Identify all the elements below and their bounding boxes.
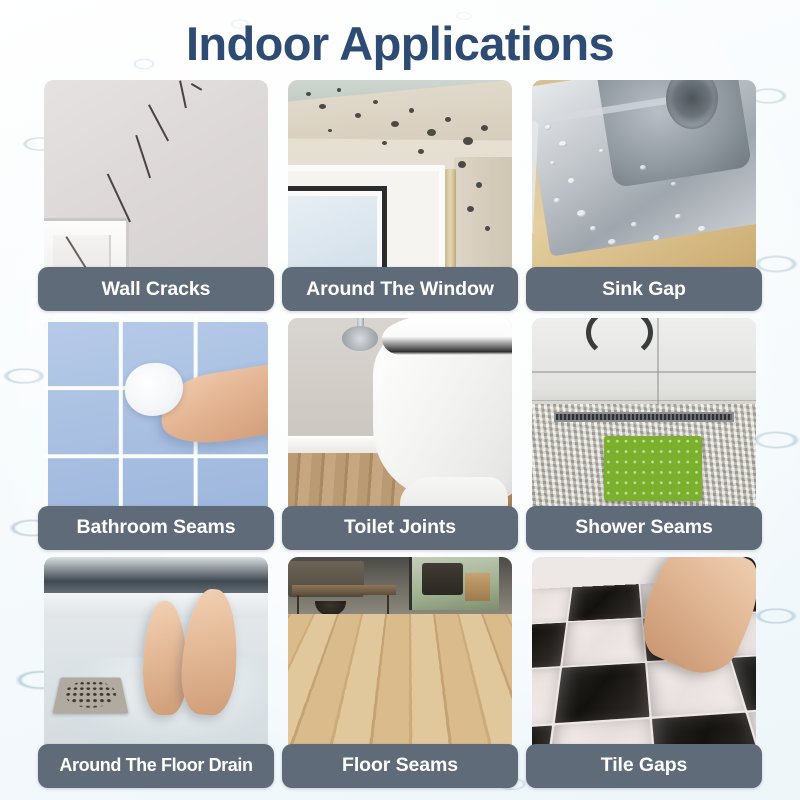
water-droplet [608,239,616,245]
mold-spot [337,88,341,92]
tile-seam-line [532,371,756,373]
card-label-toilet-joints: Toilet Joints [282,506,518,550]
scene-toilet-base [288,318,512,521]
scene-floor-drain [44,557,268,760]
application-card-tile-gaps[interactable]: Tile Gaps [526,557,762,788]
crack-segment [179,80,187,108]
scene-sink-gap [532,80,756,283]
card-label-tile-gaps: Tile Gaps [526,744,762,788]
scene-moldy-window [288,80,512,283]
application-card-toilet-joints[interactable]: Toilet Joints [282,318,518,549]
side-wall [454,157,512,283]
bare-foot [143,601,188,715]
card-photo-shower-seams [532,318,756,521]
mold-spot [481,125,488,131]
card-photo-tile-gaps [532,557,756,760]
mold-spot [445,117,451,122]
application-card-around-the-floor-drain[interactable]: Around The Floor Drain [38,557,274,788]
scene-hardwood-floor [288,557,512,760]
application-card-shower-seams[interactable]: Shower Seams [526,318,762,549]
marble-tile [562,619,645,666]
armchair [422,563,462,596]
application-card-wall-cracks[interactable]: Wall Cracks [38,80,274,311]
card-photo-wall-cracks [44,80,268,283]
marble-tile [532,623,566,671]
page-title: Indoor Applications [0,0,800,80]
marble-tile [532,588,571,626]
water-droplet [671,182,676,186]
water-droplet [631,222,637,227]
card-label-around-the-floor-drain: Around The Floor Drain [38,744,274,788]
water-droplet [568,178,575,184]
mold-spot [382,141,387,145]
card-label-floor-seams: Floor Seams [282,744,518,788]
shutoff-valve [342,326,378,350]
crack-segment [148,105,169,142]
card-photo-floor-seams [288,557,512,760]
toilet-seat [382,318,512,355]
mold-spot [391,121,399,127]
card-label-wall-cracks: Wall Cracks [38,267,274,311]
card-label-sink-gap: Sink Gap [526,267,762,311]
scene-shower-floor [532,318,756,521]
linear-drain [554,412,733,422]
marble-tile [568,585,642,622]
card-photo-around-the-window [288,80,512,283]
scene-cracked-wall [44,80,268,283]
mold-spot [306,92,311,96]
mold-spot [355,113,361,118]
card-label-shower-seams: Shower Seams [526,506,762,550]
marble-tile [554,663,649,724]
floor-planks [288,614,512,760]
applications-grid: Wall Cracks [0,80,800,800]
card-photo-sink-gap [532,80,756,283]
indoor-applications-page: Indoor Applications Wall Cracks [0,0,800,800]
application-card-bathroom-seams[interactable]: Bathroom Seams [38,318,274,549]
card-label-around-the-window: Around The Window [282,267,518,311]
card-label-bathroom-seams: Bathroom Seams [38,506,274,550]
application-card-sink-gap[interactable]: Sink Gap [526,80,762,311]
mold-spot [476,182,482,188]
crack-segment [191,83,202,90]
mold-spot [463,137,473,145]
mold-spot [427,129,436,136]
wall-pipe [445,169,456,283]
tile-seam-line [532,400,756,402]
water-droplet [577,210,586,217]
scene-marble-tiles [532,557,756,760]
scene-blue-tile-wall [44,318,268,521]
crack-segment [107,174,131,223]
application-card-floor-seams[interactable]: Floor Seams [282,557,518,788]
water-droplet [653,235,660,241]
application-card-around-the-window[interactable]: Around The Window [282,80,518,311]
water-droplet [559,141,567,147]
square-floor-drain [53,677,129,713]
coffee-table [292,585,395,595]
drain-holes [63,681,119,708]
card-photo-bathroom-seams [44,318,268,521]
wood-stool [465,573,490,601]
tile-seam-line [657,318,659,407]
mold-spot [418,149,424,154]
green-shower-mat [604,436,703,501]
crack-segment [135,135,151,178]
card-photo-toilet-joints [288,318,512,521]
card-photo-around-the-floor-drain [44,557,268,760]
